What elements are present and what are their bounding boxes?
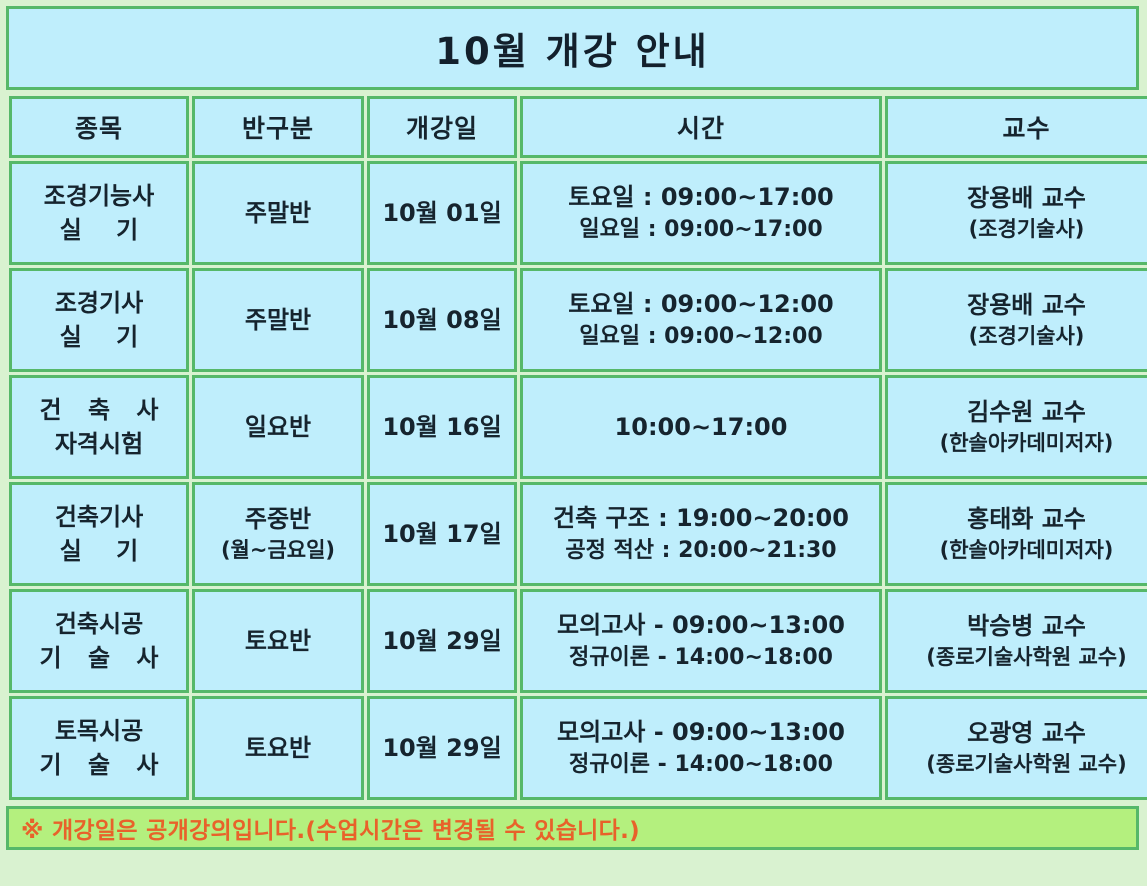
professor-credential: (종로기술사학원 교수) (890, 643, 1147, 673)
cell-course: 건 축 사 자격시험 (9, 375, 189, 479)
class-type-detail: (월~금요일) (197, 536, 359, 566)
column-header-time: 시간 (520, 96, 882, 158)
professor-credential: (한솔아카데미저자) (890, 429, 1147, 459)
cell-class-type: 토요반 (192, 589, 364, 693)
cell-professor: 오광영 교수 (종로기술사학원 교수) (885, 696, 1147, 800)
professor-name: 홍태화 교수 (967, 505, 1086, 533)
time-line-2: 일요일 : 09:00~17:00 (525, 214, 877, 245)
header-row: 종목 반구분 개강일 시간 교수 (9, 96, 1147, 158)
course-schedule-table: 종목 반구분 개강일 시간 교수 조경기능사 실 기 주말반 10월 (6, 93, 1147, 803)
cell-start-date: 10월 29일 (367, 696, 517, 800)
time-line-2: 정규이론 - 14:00~18:00 (525, 642, 877, 673)
class-type-label: 주말반 (245, 199, 311, 227)
cell-class-type: 토요반 (192, 696, 364, 800)
table-row: 조경기사 실 기 주말반 10월 08일 토요일 : 09:00~12:00 일… (9, 268, 1147, 372)
professor-name: 장용배 교수 (967, 291, 1086, 319)
time-line-2: 일요일 : 09:00~12:00 (525, 321, 877, 352)
table-row: 건 축 사 자격시험 일요반 10월 16일 10:00~17:00 김수원 교… (9, 375, 1147, 479)
table-row: 조경기능사 실 기 주말반 10월 01일 토요일 : 09:00~17:00 … (9, 161, 1147, 265)
column-header-course: 종목 (9, 96, 189, 158)
cell-start-date: 10월 16일 (367, 375, 517, 479)
professor-credential: (종로기술사학원 교수) (890, 750, 1147, 780)
time-line-1: 건축 구조 : 19:00~20:00 (553, 504, 849, 532)
cell-time: 모의고사 - 09:00~13:00 정규이론 - 14:00~18:00 (520, 589, 882, 693)
cell-time: 10:00~17:00 (520, 375, 882, 479)
cell-course: 건축기사 실 기 (9, 482, 189, 586)
class-type-label: 주중반 (245, 505, 311, 533)
table-row: 건축시공 기 술 사 토요반 10월 29일 모의고사 - 09:00~13:0… (9, 589, 1147, 693)
course-name-line2: 기 술 사 (14, 641, 184, 675)
schedule-sheet: 10월 개강 안내 종목 반구분 개강일 시간 교수 조경기능사 실 기 (6, 6, 1139, 880)
cell-course: 조경기능사 실 기 (9, 161, 189, 265)
class-type-label: 주말반 (245, 306, 311, 334)
course-name-line2: 실 기 (14, 213, 184, 247)
professor-credential: (한솔아카데미저자) (890, 536, 1147, 566)
cell-start-date: 10월 29일 (367, 589, 517, 693)
course-name-line2: 실 기 (14, 320, 184, 354)
cell-professor: 홍태화 교수 (한솔아카데미저자) (885, 482, 1147, 586)
course-name-line1: 토목시공 (55, 717, 143, 745)
cell-professor: 장용배 교수 (조경기술사) (885, 268, 1147, 372)
cell-start-date: 10월 17일 (367, 482, 517, 586)
cell-start-date: 10월 08일 (367, 268, 517, 372)
course-name-line1: 조경기사 (55, 289, 143, 317)
class-type-label: 토요반 (245, 734, 311, 762)
course-name-line1: 건축시공 (55, 610, 143, 638)
course-name-line1: 건축기사 (55, 503, 143, 531)
course-name-line2: 자격시험 (55, 430, 143, 458)
professor-credential: (조경기술사) (890, 322, 1147, 352)
footer-note: ※ 개강일은 공개강의입니다.(수업시간은 변경될 수 있습니다.) (6, 806, 1139, 850)
table-body: 조경기능사 실 기 주말반 10월 01일 토요일 : 09:00~17:00 … (9, 161, 1147, 800)
column-header-professor: 교수 (885, 96, 1147, 158)
cell-course: 건축시공 기 술 사 (9, 589, 189, 693)
professor-name: 김수원 교수 (967, 398, 1086, 426)
column-header-startdate: 개강일 (367, 96, 517, 158)
course-name-line2: 기 술 사 (14, 748, 184, 782)
cell-start-date: 10월 01일 (367, 161, 517, 265)
time-line-1: 토요일 : 09:00~17:00 (568, 183, 833, 211)
table-row: 건축기사 실 기 주중반 (월~금요일) 10월 17일 건축 구조 : 19:… (9, 482, 1147, 586)
cell-course: 조경기사 실 기 (9, 268, 189, 372)
course-name-line1: 건 축 사 (14, 393, 184, 427)
time-line-2: 공정 적산 : 20:00~21:30 (525, 535, 877, 566)
cell-class-type: 주중반 (월~금요일) (192, 482, 364, 586)
cell-course: 토목시공 기 술 사 (9, 696, 189, 800)
professor-name: 오광영 교수 (967, 719, 1086, 747)
cell-time: 건축 구조 : 19:00~20:00 공정 적산 : 20:00~21:30 (520, 482, 882, 586)
cell-class-type: 일요반 (192, 375, 364, 479)
cell-class-type: 주말반 (192, 268, 364, 372)
professor-credential: (조경기술사) (890, 215, 1147, 245)
class-type-label: 일요반 (245, 413, 311, 441)
course-name-line1: 조경기능사 (44, 182, 154, 210)
cell-professor: 장용배 교수 (조경기술사) (885, 161, 1147, 265)
time-line-1: 모의고사 - 09:00~13:00 (557, 718, 845, 746)
course-name-line2: 실 기 (14, 534, 184, 568)
time-line-1: 모의고사 - 09:00~13:00 (557, 611, 845, 639)
cell-time: 모의고사 - 09:00~13:00 정규이론 - 14:00~18:00 (520, 696, 882, 800)
cell-class-type: 주말반 (192, 161, 364, 265)
professor-name: 장용배 교수 (967, 184, 1086, 212)
professor-name: 박승병 교수 (967, 612, 1086, 640)
table-row: 토목시공 기 술 사 토요반 10월 29일 모의고사 - 09:00~13:0… (9, 696, 1147, 800)
cell-professor: 박승병 교수 (종로기술사학원 교수) (885, 589, 1147, 693)
time-line-2: 정규이론 - 14:00~18:00 (525, 749, 877, 780)
cell-time: 토요일 : 09:00~12:00 일요일 : 09:00~12:00 (520, 268, 882, 372)
page-title: 10월 개강 안내 (6, 6, 1139, 90)
time-line-1: 토요일 : 09:00~12:00 (568, 290, 833, 318)
time-line-1: 10:00~17:00 (615, 413, 788, 441)
column-header-classtype: 반구분 (192, 96, 364, 158)
table-header: 종목 반구분 개강일 시간 교수 (9, 96, 1147, 158)
poster-frame: 10월 개강 안내 종목 반구분 개강일 시간 교수 조경기능사 실 기 (0, 0, 1147, 886)
cell-professor: 김수원 교수 (한솔아카데미저자) (885, 375, 1147, 479)
class-type-label: 토요반 (245, 627, 311, 655)
cell-time: 토요일 : 09:00~17:00 일요일 : 09:00~17:00 (520, 161, 882, 265)
